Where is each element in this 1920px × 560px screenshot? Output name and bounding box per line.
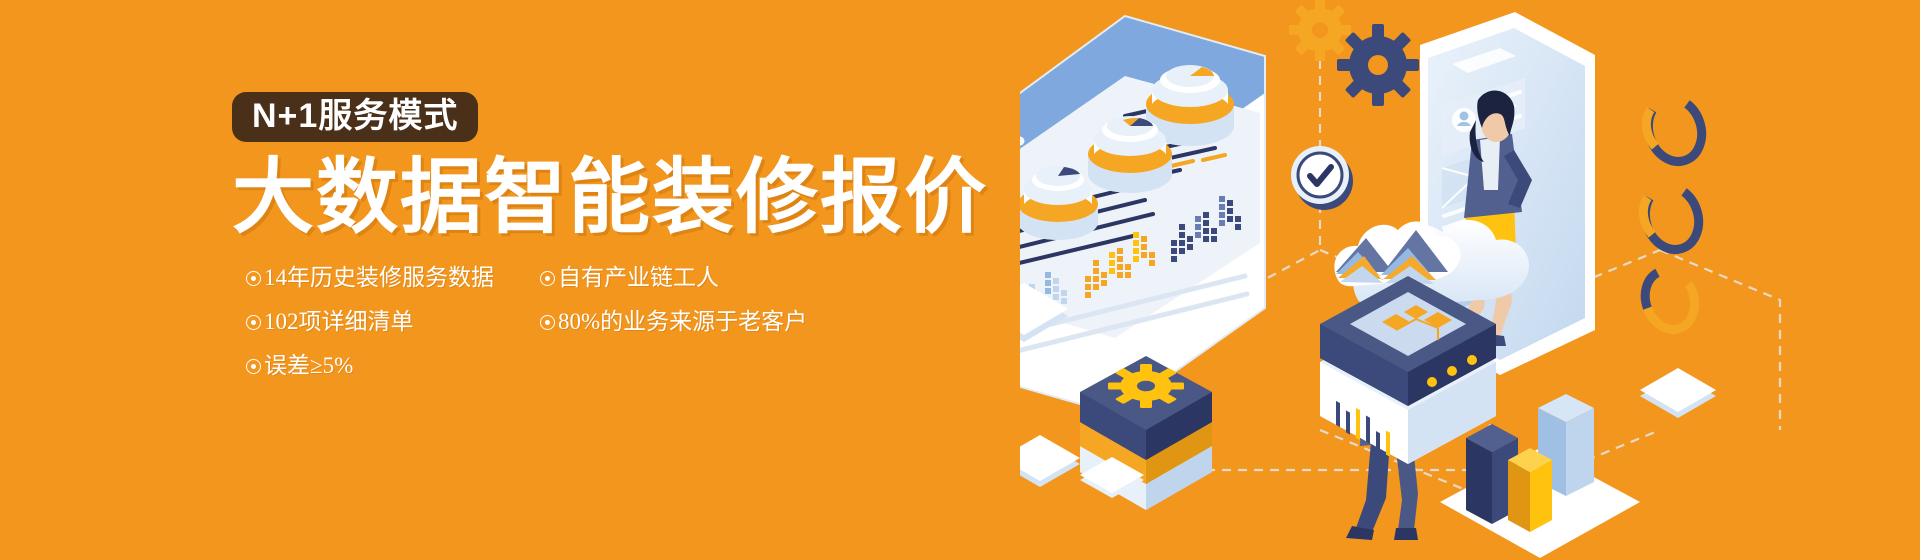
loading-ring-icon-3: [1637, 264, 1703, 337]
circled-dot-icon: [246, 359, 261, 374]
promo-banner: N+1服务模式 大数据智能装修报价 14年历史装修服务数据 102项详细清单 误…: [0, 0, 1920, 560]
loading-ring-icon-2: [1632, 177, 1713, 259]
loading-ring-icon-1: [1635, 89, 1716, 171]
list-item: 102项详细清单: [246, 310, 546, 333]
list-item-label: 80%的业务来源于老客户: [558, 309, 807, 334]
circled-dot-icon: [540, 271, 555, 286]
floating-plate-2: [1020, 435, 1080, 487]
circled-dot-icon: [246, 271, 261, 286]
gear-icon-large: [1337, 24, 1419, 106]
list-item: 80%的业务来源于老客户: [540, 310, 880, 333]
floating-plate-1: [1640, 368, 1716, 418]
bullet-column-left: 14年历史装修服务数据 102项详细清单 误差≥5%: [246, 266, 546, 398]
list-item-label: 自有产业链工人: [558, 265, 719, 290]
page-title: 大数据智能装修报价: [232, 156, 992, 240]
circled-dot-icon: [246, 315, 261, 330]
list-item-label: 102项详细清单: [264, 309, 414, 334]
service-mode-badge: N+1服务模式: [232, 92, 478, 142]
bullet-column-right: 自有产业链工人 80%的业务来源于老客户: [540, 266, 880, 354]
hero-illustration: [1020, 0, 1920, 560]
list-item: 自有产业链工人: [540, 266, 880, 289]
list-item-label: 误差≥5%: [264, 353, 353, 378]
gear-icon-small: [1289, 0, 1351, 61]
list-item-label: 14年历史装修服务数据: [264, 265, 494, 290]
check-badge-icon: [1291, 146, 1353, 210]
list-item: 14年历史装修服务数据: [246, 266, 546, 289]
text-block: N+1服务模式 大数据智能装修报价 14年历史装修服务数据 102项详细清单 误…: [232, 92, 992, 266]
list-item: 误差≥5%: [246, 354, 546, 377]
circled-dot-icon: [540, 315, 555, 330]
